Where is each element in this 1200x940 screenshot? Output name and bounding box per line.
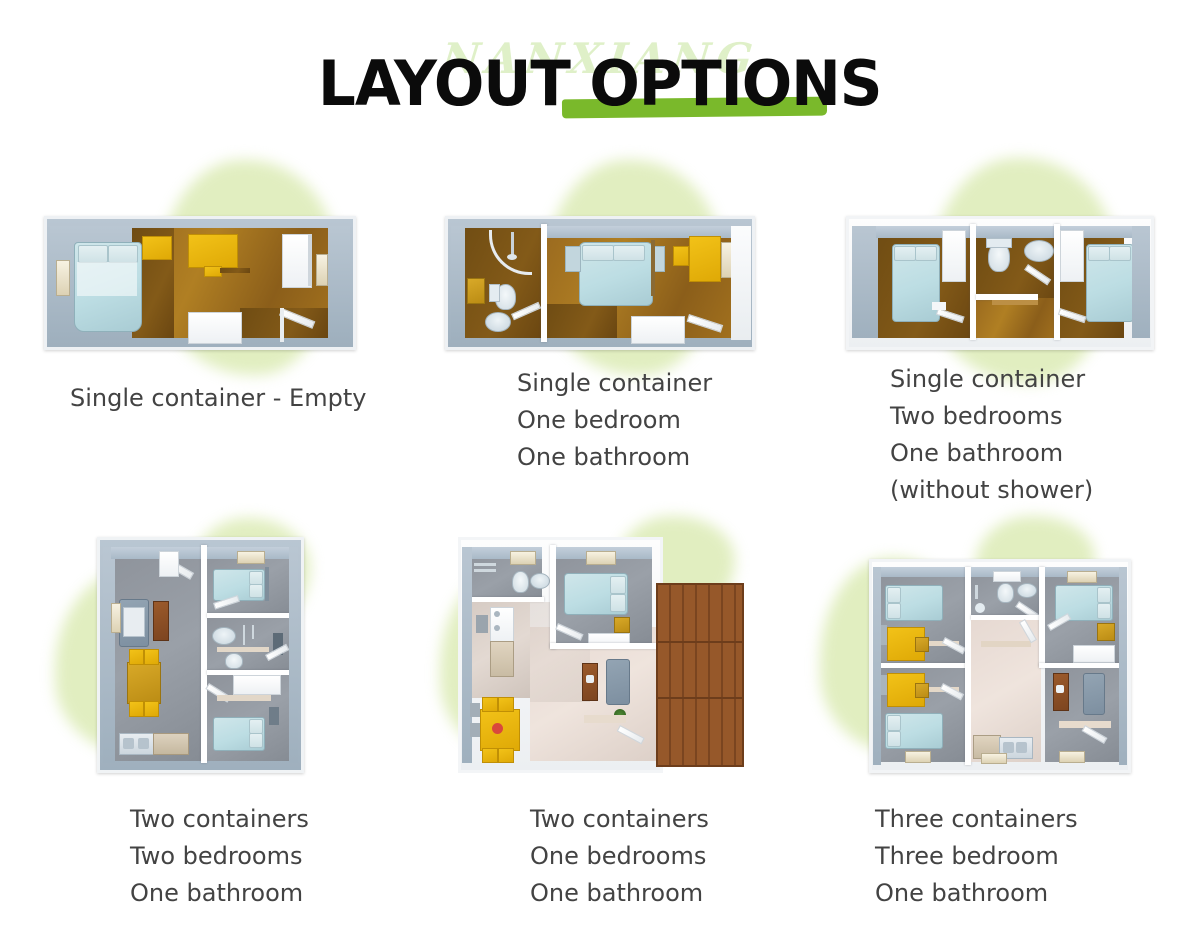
chair [144,649,159,665]
shower-head-icon [507,254,517,260]
chair [129,701,144,717]
chair [482,697,498,712]
caption-single-container-empty: Single container - Empty [0,350,400,417]
deck [656,697,744,767]
counter [153,733,189,755]
shower-icon [474,563,496,566]
layout-row-top: Single container - Empty [0,150,1200,490]
chair [129,649,144,665]
coffee-table [153,601,169,641]
page-title-wrap: LAYOUT OPTIONS [0,56,1200,114]
basin [485,312,511,332]
sofa [606,659,630,705]
caption-two-containers-2bed: Two containers Two bedrooms One bathroom [0,773,400,912]
dining-table [127,662,161,704]
window-icon [586,551,616,565]
caption-three-containers-3bed: Three containers Three bedroom One bathr… [800,773,1200,912]
bench [631,316,685,344]
layout-card-two-containers-2bed[interactable]: Two containers Two bedrooms One bathroom [0,508,400,908]
window-icon [237,551,265,564]
basin [530,573,550,589]
deck [656,583,744,645]
window-icon [510,551,536,565]
layout-card-single-container-empty[interactable]: Single container - Empty [0,150,400,490]
window-icon [1067,571,1097,583]
chair [498,748,514,763]
chair [144,701,159,717]
floorplan-single-container-2bed-1bath[interactable] [846,216,1154,350]
shower-icon [243,625,245,645]
floorplan-single-container-empty[interactable] [44,216,356,350]
window-icon [981,753,1007,764]
layout-options-grid: Single container - Empty [0,150,1200,908]
wardrobe [942,230,966,282]
window-icon [316,254,328,286]
floorplan-three-containers-3bed-1bath[interactable] [869,559,1131,773]
toilet [997,583,1014,603]
desk [188,234,238,268]
caption-two-containers-1bed: Two containers One bedrooms One bathroom [400,773,800,912]
layout-card-single-container-1bed[interactable]: Single container One bedroom One bathroo… [400,150,800,490]
chair [498,697,514,712]
sofa [1083,673,1105,715]
floorplan-single-container-1bed-1bath[interactable] [445,216,755,350]
chair [915,683,929,698]
layout-card-two-containers-1bed[interactable]: Two containers One bedrooms One bathroom [400,508,800,908]
bench [188,312,242,344]
floorplan-two-containers-2bed-1bath[interactable] [97,537,304,773]
chair [482,748,498,763]
window-icon [1059,751,1085,763]
desk [689,236,721,282]
layout-card-three-containers-3bed[interactable]: Three containers Three bedroom One bathr… [800,508,1200,908]
nightstand [614,617,630,633]
basin [1024,240,1054,262]
page-header: NANXIANG LAYOUT OPTIONS [0,0,1200,150]
caption-single-container-1bed: Single container One bedroom One bathroo… [400,350,800,476]
basin [1017,583,1037,598]
basin [212,627,236,645]
shower-icon [975,585,978,599]
layout-row-bottom: Two containers Two bedrooms One bathroom [0,508,1200,908]
wall-cabinet [142,236,172,260]
chair [915,637,929,652]
page-title: LAYOUT OPTIONS [318,53,881,118]
window-icon [111,603,121,633]
toilet [225,653,243,669]
window-icon [905,751,931,763]
nightstand [1097,623,1115,641]
window-icon [56,260,70,296]
deck [656,641,744,701]
layout-card-single-container-2bed[interactable]: Single container Two bedrooms One bathro… [800,150,1200,490]
chair [673,246,689,266]
toilet [512,571,529,593]
caption-single-container-2bed: Single container Two bedrooms One bathro… [800,350,1200,509]
wardrobe [1060,230,1084,282]
floorplan-two-containers-1bed-1bath[interactable] [458,537,743,773]
